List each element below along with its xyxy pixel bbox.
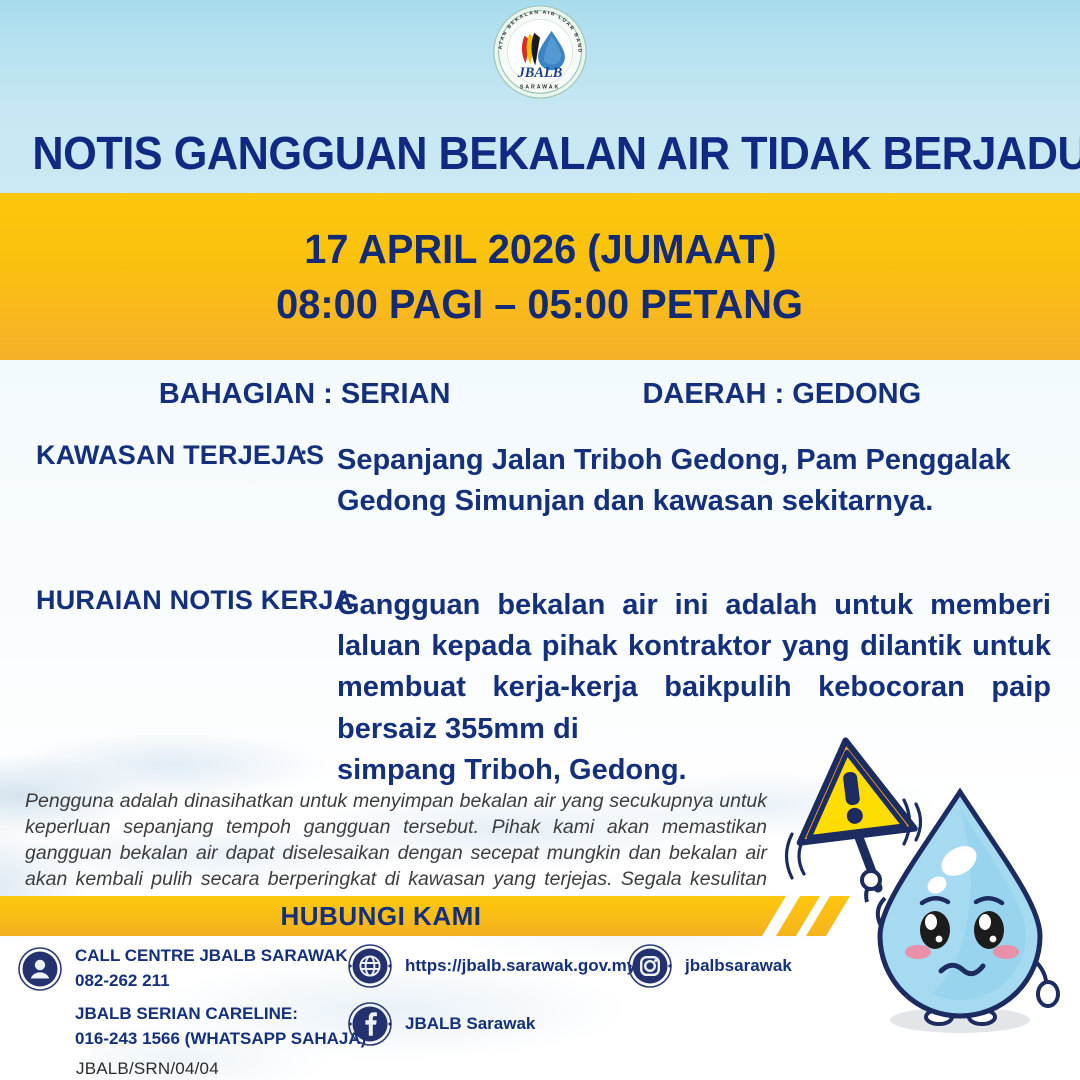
person-icon bbox=[18, 947, 62, 991]
work-description-row: HURAIAN NOTIS KERJA : Gangguan bekalan a… bbox=[36, 585, 1051, 791]
work-description-line-4: simpang Triboh, Gedong. bbox=[337, 750, 1051, 791]
notice-date: 17 APRIL 2026 (JUMAAT) bbox=[304, 222, 776, 277]
contact-call-centre-line-2: 082-262 211 bbox=[75, 969, 348, 994]
instagram-icon[interactable] bbox=[628, 944, 672, 988]
jbalb-logo: JBALB SARAWAK JABATAN BEKALAN AIR LUAR B… bbox=[492, 4, 588, 100]
work-description-colon: : bbox=[299, 585, 337, 616]
reference-code: JBALB/SRN/04/04 bbox=[76, 1059, 219, 1079]
contact-careline-text: JBALB SERIAN CARELINE: 016-243 1566 (WHA… bbox=[75, 1002, 366, 1051]
work-description-label: HURAIAN NOTIS KERJA bbox=[36, 585, 299, 616]
affected-area-value: Sepanjang Jalan Triboh Gedong, Pam Pengg… bbox=[337, 440, 1046, 522]
contact-call-centre-line-1: CALL CENTRE JBALB SARAWAK bbox=[75, 946, 348, 965]
contact-call-centre-text: CALL CENTRE JBALB SARAWAK 082-262 211 bbox=[75, 944, 348, 993]
affected-area-line-2: Gedong Simunjan dan kawasan sekitarnya. bbox=[337, 481, 1046, 522]
contact-website-text[interactable]: https://jbalb.sarawak.gov.my/ bbox=[405, 954, 641, 979]
contact-website[interactable]: https://jbalb.sarawak.gov.my/ bbox=[348, 944, 641, 988]
contact-banner: HUBUNGI KAMI bbox=[0, 896, 1080, 936]
notice-poster: JBALB SARAWAK JABATAN BEKALAN AIR LUAR B… bbox=[0, 0, 1080, 1080]
affected-area-line-1: Sepanjang Jalan Triboh Gedong, Pam Pengg… bbox=[337, 444, 1011, 476]
division-label: BAHAGIAN : SERIAN bbox=[159, 378, 451, 411]
contact-call-centre: CALL CENTRE JBALB SARAWAK 082-262 211 bbox=[18, 944, 348, 993]
svg-text:JBALB: JBALB bbox=[517, 65, 563, 81]
contact-careline-line-1: JBALB SERIAN CARELINE: bbox=[75, 1004, 298, 1023]
page-title: NOTIS GANGGUAN BEKALAN AIR TIDAK BERJADU… bbox=[32, 126, 1047, 180]
affected-area-row: KAWASAN TERJEJAS : Sepanjang Jalan Tribo… bbox=[36, 440, 1046, 522]
contact-banner-title: HUBUNGI KAMI bbox=[0, 896, 762, 936]
contact-instagram-text[interactable]: jbalbsarawak bbox=[685, 954, 792, 979]
notice-time: 08:00 PAGI – 05:00 PETANG bbox=[277, 277, 804, 332]
contact-careline-line-2: 016-243 1566 (WHATSAPP SAHAJA) bbox=[75, 1027, 366, 1052]
region-row: BAHAGIAN : SERIAN DAERAH : GEDONG bbox=[0, 378, 1080, 411]
contact-careline: JBALB SERIAN CARELINE: 016-243 1566 (WHA… bbox=[18, 1002, 366, 1051]
date-time-banner: 17 APRIL 2026 (JUMAAT) 08:00 PAGI – 05:0… bbox=[0, 193, 1080, 360]
contact-facebook[interactable]: JBALB Sarawak bbox=[348, 1002, 535, 1046]
district-label: DAERAH : GEDONG bbox=[642, 378, 921, 411]
globe-icon[interactable] bbox=[348, 944, 392, 988]
poster-header: JBALB SARAWAK JABATAN BEKALAN AIR LUAR B… bbox=[0, 0, 1080, 193]
svg-text:SARAWAK: SARAWAK bbox=[520, 84, 560, 90]
contact-facebook-text[interactable]: JBALB Sarawak bbox=[405, 1012, 535, 1037]
work-description-value: Gangguan bekalan air ini adalah untuk me… bbox=[337, 585, 1051, 791]
facebook-icon[interactable] bbox=[348, 1002, 392, 1046]
affected-area-colon: : bbox=[299, 440, 337, 471]
contact-instagram[interactable]: jbalbsarawak bbox=[628, 944, 792, 988]
affected-area-label: KAWASAN TERJEJAS bbox=[36, 440, 299, 471]
contact-details: CALL CENTRE JBALB SARAWAK 082-262 211 JB… bbox=[0, 936, 1080, 1080]
